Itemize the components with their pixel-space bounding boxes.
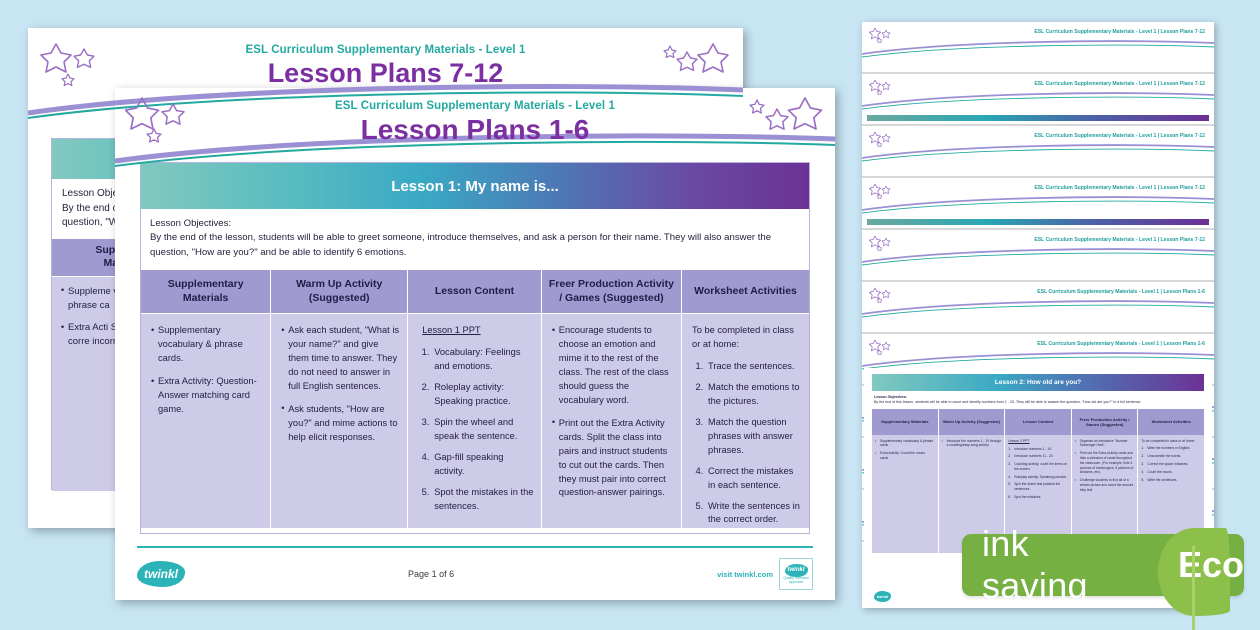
- eco-text-primary: ink saving: [982, 523, 1132, 607]
- column-header: Supplementary Materials: [141, 270, 270, 314]
- mini-worksheet-intro: To be completed in class or at home:: [1141, 439, 1201, 444]
- mini-column-body: Supplementary vocabulary & phrase cards.…: [872, 435, 938, 553]
- list-item: Extra Activity: Question-Answer matching…: [158, 375, 263, 417]
- column-header: Lesson Content: [408, 270, 541, 314]
- mini-column-header: Supplementary Materials: [872, 409, 938, 435]
- list-item: Encourage students to choose an emotion …: [559, 324, 674, 408]
- column-body: Lesson 1 PPT Vocabulary: Feelings and em…: [408, 314, 541, 528]
- front-card-header: ESL Curriculum Supplementary Materials -…: [115, 88, 835, 168]
- thumbnail-label: ESL Curriculum Supplementary Materials -…: [1034, 29, 1205, 35]
- swoosh-decoration: [862, 298, 1214, 318]
- back-card-objectives-line1: By the end of: [62, 203, 121, 214]
- thumbnail-label: ESL Curriculum Supplementary Materials -…: [1037, 341, 1205, 347]
- page-card-lesson-plans-1-6[interactable]: ESL Curriculum Supplementary Materials -…: [115, 88, 835, 600]
- table-column-worksheet-activities: Worksheet Activities To be completed in …: [682, 270, 809, 528]
- list-item: Roleplay activity: Speaking practice.: [1008, 475, 1068, 480]
- column-body: Encourage students to choose an emotion …: [542, 314, 681, 528]
- list-item: Organise an interactive "Number Scavenge…: [1075, 439, 1135, 449]
- list-item: Print out the Extra Activity cards and h…: [1075, 451, 1135, 475]
- column-body: To be completed in class or at home: Tra…: [682, 314, 809, 528]
- mini-column-header: Worksheet Activities: [1138, 409, 1204, 435]
- list-item: Spot the mistakes in the sentences.: [434, 486, 534, 514]
- footer-row: twinkl Page 1 of 6 visit twinkl.com twin…: [137, 548, 813, 600]
- list-item: Spin the wheel and speak the sentence.: [434, 416, 534, 444]
- visit-twinkl-link[interactable]: visit twinkl.com: [717, 570, 773, 579]
- lesson-title-bar: Lesson 1: My name is...: [141, 163, 809, 209]
- list-item: Challenge students to find all of a cert…: [1075, 478, 1135, 492]
- list-item: Gap-fill speaking activity.: [434, 451, 534, 479]
- ppt-link[interactable]: Lesson 1 PPT: [422, 324, 534, 338]
- thumbnail-item[interactable]: ESL Curriculum Supplementary Materials -…: [862, 126, 1214, 178]
- list-item: Introduce the numbers 1 - 10 through a c…: [942, 439, 1002, 449]
- list-item: Supplementary vocabulary & phrase cards.: [158, 324, 263, 366]
- card-footer: twinkl Page 1 of 6 visit twinkl.com twin…: [115, 546, 835, 600]
- list-item: Vocabulary: Feelings and emotions.: [434, 346, 534, 374]
- list-item: Roleplay activity: Speaking practice.: [434, 381, 534, 409]
- column-body: Ask each student, "What is your name?" a…: [271, 314, 407, 528]
- list-item: Introduce numbers 1 - 10.: [1008, 447, 1068, 452]
- swoosh-decoration: [862, 350, 1214, 370]
- swoosh-decoration: [862, 246, 1214, 266]
- swoosh-decoration: [862, 194, 1214, 214]
- list-item: Count the nouns.: [1141, 470, 1201, 475]
- list-item: Trace the sentences.: [708, 360, 802, 374]
- list-item: Write the sentences in the correct order…: [708, 500, 802, 528]
- list-item: Spot the mistakes.: [1008, 495, 1068, 500]
- list-item: Ask students, "How are you?" and mime ac…: [288, 403, 400, 445]
- list-item: Write the sentences.: [1141, 478, 1201, 483]
- front-card-title: Lesson Plans 1-6: [115, 112, 835, 146]
- objectives-text: By the end of the lesson, students will …: [150, 232, 771, 257]
- objectives-label: Lesson Objectives:: [150, 218, 231, 229]
- back-card-title: Lesson Plans 7-12: [28, 56, 743, 89]
- lesson-block: Lesson 1: My name is... Lesson Objective…: [140, 162, 810, 534]
- column-header: Warm Up Activity (Suggested): [271, 270, 407, 314]
- list-item: Unscramble the words.: [1141, 454, 1201, 459]
- thumbnail-item[interactable]: ESL Curriculum Supplementary Materials -…: [862, 74, 1214, 126]
- thumbnail-item[interactable]: ESL Curriculum Supplementary Materials -…: [862, 282, 1214, 334]
- thumbnail-gradient-bar: [867, 219, 1209, 225]
- list-item: Extra Activity: Count the nouns cards.: [875, 451, 935, 461]
- lesson-table: Supplementary Materials Supplementary vo…: [141, 270, 809, 528]
- thumbnail-label: ESL Curriculum Supplementary Materials -…: [1034, 81, 1205, 87]
- thumbnail-label: ESL Curriculum Supplementary Materials -…: [1034, 133, 1205, 139]
- list-item: Write the numbers in English.: [1141, 446, 1201, 451]
- list-item: Correct the mistakes in each sentence.: [708, 465, 802, 493]
- ink-saving-eco-badge: ink saving Eco: [962, 528, 1260, 630]
- list-item: Introduce numbers 11 - 20.: [1008, 454, 1068, 459]
- swoosh-decoration: [862, 90, 1214, 110]
- mini-column-header: Warm Up Activity (Suggested): [939, 409, 1005, 435]
- mini-column-header: Freer Production Activity / Games (Sugge…: [1072, 409, 1138, 435]
- list-item: Ask each student, "What is your name?" a…: [288, 324, 400, 394]
- column-body: Supplementary vocabulary & phrase cards.…: [141, 314, 270, 528]
- swoosh-decoration: [862, 142, 1214, 162]
- thumbnail-label: ESL Curriculum Supplementary Materials -…: [1037, 289, 1205, 295]
- back-card-subtitle: ESL Curriculum Supplementary Materials -…: [28, 28, 743, 56]
- mini-objectives-label: Lesson Objectives:: [874, 395, 907, 399]
- thumbnail-item[interactable]: ESL Curriculum Supplementary Materials -…: [862, 22, 1214, 74]
- worksheet-intro: To be completed in class or at home:: [692, 324, 802, 352]
- mini-lesson-title-bar: Lesson 2: How old are you?: [872, 374, 1204, 391]
- mini-ppt-link: Lesson 2 PPT: [1008, 439, 1068, 444]
- list-item: Print out the Extra Activity cards. Spli…: [559, 417, 674, 501]
- column-header: Freer Production Activity / Games (Sugge…: [542, 270, 681, 314]
- front-card-subtitle: ESL Curriculum Supplementary Materials -…: [115, 88, 835, 112]
- table-column-freer-production-activity: Freer Production Activity / Games (Sugge…: [542, 270, 682, 528]
- table-column-supplementary-materials: Supplementary Materials Supplementary vo…: [141, 270, 271, 528]
- badge-twinkl-logo: twinkl: [785, 564, 808, 577]
- column-header: Worksheet Activities: [682, 270, 809, 314]
- thumbnail-item[interactable]: ESL Curriculum Supplementary Materials -…: [862, 178, 1214, 230]
- list-item: Spin the wheel and practise the sentence…: [1008, 482, 1068, 492]
- mini-column-supplementary-materials: Supplementary Materials Supplementary vo…: [872, 409, 939, 553]
- mini-twinkl-logo: twinkl: [874, 591, 891, 602]
- back-card-objectives-label: Lesson Obje: [62, 188, 118, 199]
- mini-objectives-text: By the end of this lesson, students will…: [874, 400, 1141, 404]
- list-item: Match the question phrases with answer p…: [708, 416, 802, 458]
- quality-approved-badge: twinkl Quality Standard Approved: [779, 558, 813, 590]
- thumbnail-item[interactable]: ESL Curriculum Supplementary Materials -…: [862, 230, 1214, 282]
- lesson-objectives: Lesson Objectives: By the end of the les…: [141, 209, 809, 270]
- twinkl-logo[interactable]: twinkl: [137, 561, 185, 587]
- list-item: Correct the space mistakes.: [1141, 462, 1201, 467]
- swoosh-decoration: [862, 38, 1214, 58]
- list-item: Supplementary vocabulary & phrase cards.: [875, 439, 935, 449]
- leaf-stem-icon: [1192, 546, 1195, 630]
- page-number: Page 1 of 6: [408, 569, 454, 579]
- footer-right: visit twinkl.com twinkl Quality Standard…: [717, 558, 813, 590]
- mini-objectives: Lesson Objectives: By the end of this le…: [874, 395, 1202, 405]
- thumbnail-label: ESL Curriculum Supplementary Materials -…: [1034, 185, 1205, 191]
- thumbnail-label: ESL Curriculum Supplementary Materials -…: [1034, 237, 1205, 243]
- table-column-lesson-content: Lesson Content Lesson 1 PPT Vocabulary: …: [408, 270, 542, 528]
- mini-column-header: Lesson Content: [1005, 409, 1071, 435]
- eco-text-secondary: Eco: [1178, 544, 1244, 586]
- thumbnail-gradient-bar: [867, 115, 1209, 121]
- list-item: Match the emotions to the pictures.: [708, 381, 802, 409]
- list-item: Counting activity: count the items on th…: [1008, 462, 1068, 472]
- badge-line-2: Approved: [789, 581, 804, 585]
- table-column-warm-up-activity: Warm Up Activity (Suggested) Ask each st…: [271, 270, 408, 528]
